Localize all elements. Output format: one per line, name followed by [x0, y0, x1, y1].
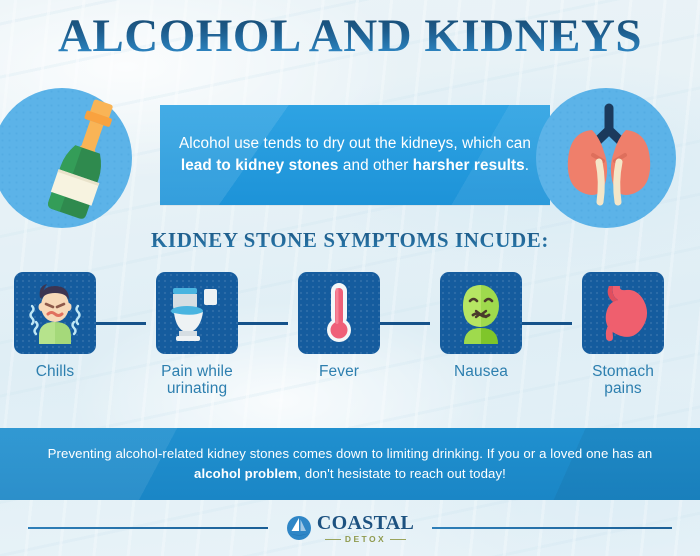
tagline-dash-left	[325, 539, 341, 540]
bottom-banner-text: Preventing alcohol-related kidney stones…	[0, 444, 700, 484]
brand-logo[interactable]: COASTAL DETOX	[286, 513, 414, 544]
infographic-root: ALCOHOL AND KIDNEYS Alcohol use tends to…	[0, 0, 700, 556]
symptom-tile-stomach-pains[interactable]: Stomach pains	[582, 272, 664, 398]
symptom-label-pain-while-urinating: Pain while urinating	[156, 363, 238, 398]
footer-divider-left	[28, 527, 268, 529]
page-title: ALCOHOL AND KIDNEYS	[0, 13, 700, 60]
symptom-tile-chills-box	[14, 272, 96, 354]
symptom-tile-stomach-pains-box	[582, 272, 664, 354]
symptoms-tiles: Chills Pain while urinating	[0, 272, 700, 418]
symptom-tile-chills[interactable]: Chills	[14, 272, 96, 380]
connector-line-4	[522, 322, 572, 325]
footer-divider-right	[432, 527, 672, 529]
brand-tagline: DETOX	[325, 535, 406, 544]
nauseated-face-icon	[453, 282, 509, 344]
tagline-dash-right	[390, 539, 406, 540]
kidneys-icon	[562, 100, 656, 212]
symptom-tile-nausea-box	[440, 272, 522, 354]
symptom-tile-nausea[interactable]: Nausea	[440, 272, 522, 380]
symptom-tile-pain-while-urinating[interactable]: Pain while urinating	[156, 272, 238, 398]
champagne-bottle-icon	[40, 93, 130, 221]
connector-line-1	[96, 322, 146, 325]
thermometer-icon	[322, 281, 356, 345]
connector-line-3	[380, 322, 430, 325]
brand-name: COASTAL	[317, 513, 414, 533]
symptom-label-chills: Chills	[14, 363, 96, 380]
hero-banner: Alcohol use tends to dry out the kidneys…	[160, 105, 550, 205]
brand-logo-text: COASTAL DETOX	[317, 513, 414, 544]
symptom-tile-fever-box	[298, 272, 380, 354]
symptom-label-fever: Fever	[298, 363, 380, 380]
bottom-banner: Preventing alcohol-related kidney stones…	[0, 428, 700, 500]
symptom-label-stomach-pains: Stomach pains	[582, 363, 664, 398]
symptoms-heading: KIDNEY STONE SYMPTOMS INCUDE:	[0, 228, 700, 253]
connector-line-2	[238, 322, 288, 325]
footer: COASTAL DETOX	[0, 500, 700, 556]
symptom-tile-fever[interactable]: Fever	[298, 272, 380, 380]
sailboat-circle-icon	[286, 515, 312, 541]
toilet-icon	[168, 283, 226, 343]
tagline-text: DETOX	[345, 535, 386, 544]
symptom-tile-pain-while-urinating-box	[156, 272, 238, 354]
symptom-label-nausea: Nausea	[440, 363, 522, 380]
hero-banner-text: Alcohol use tends to dry out the kidneys…	[160, 133, 550, 176]
stomach-icon	[596, 282, 650, 344]
shivering-person-icon	[25, 282, 85, 344]
